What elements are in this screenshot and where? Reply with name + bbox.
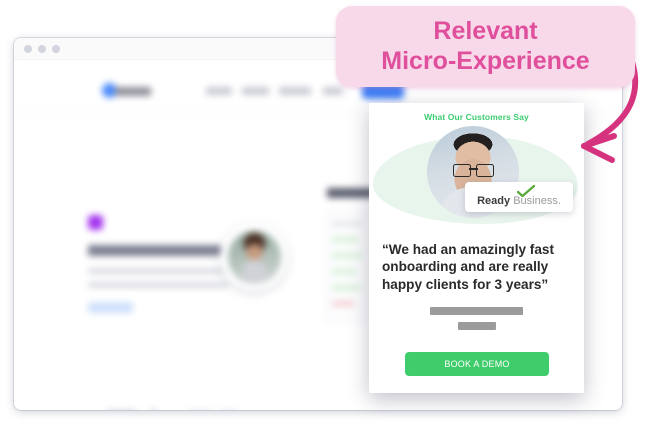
- author-name-placeholder: [430, 307, 523, 315]
- popup-hero: Ready Business.: [369, 126, 584, 231]
- check-icon: [517, 185, 535, 197]
- nav-link-2[interactable]: [242, 87, 269, 95]
- hero-body-line-1: [88, 268, 238, 274]
- book-a-demo-button[interactable]: BOOK A DEMO: [405, 352, 549, 376]
- panel-row: [332, 221, 362, 226]
- avatar: [220, 223, 288, 291]
- ready-business-badge: Ready Business.: [465, 182, 573, 212]
- nav-link-3[interactable]: [279, 87, 311, 95]
- author-role-placeholder: [458, 322, 496, 330]
- hero-badge-icon: [88, 215, 103, 230]
- screenshot-stage: What Our Customers Say Ready Business. “…: [0, 0, 651, 445]
- hero-heading-placeholder: [88, 245, 221, 256]
- callout-line-1: Relevant: [433, 17, 537, 46]
- testimonial-quote: “We had an amazingly fast onboarding and…: [382, 241, 571, 293]
- maximize-icon[interactable]: [52, 45, 60, 53]
- panel-row: [332, 253, 362, 258]
- brand-name-placeholder: [115, 87, 151, 96]
- panel-row: [332, 269, 356, 274]
- nav-link-1[interactable]: [206, 87, 232, 95]
- testimonial-popup-card: What Our Customers Say Ready Business. “…: [369, 103, 584, 393]
- panel-row: [332, 301, 354, 306]
- panel-row: [332, 285, 360, 290]
- glasses-icon: [453, 164, 494, 175]
- popup-eyebrow-label: What Our Customers Say: [369, 112, 584, 122]
- hero-body-line-2: [88, 282, 228, 288]
- hero-cta-button[interactable]: [88, 302, 133, 313]
- badge-brand-strong: Ready: [477, 195, 510, 207]
- callout-line-2: Micro-Experience: [381, 47, 589, 76]
- close-icon[interactable]: [24, 45, 32, 53]
- annotation-callout: Relevant Micro-Experience: [336, 6, 635, 87]
- minimize-icon[interactable]: [38, 45, 46, 53]
- nav-link-4[interactable]: [323, 87, 343, 95]
- woman-headshot-image: [228, 231, 281, 284]
- panel-row: [332, 237, 358, 242]
